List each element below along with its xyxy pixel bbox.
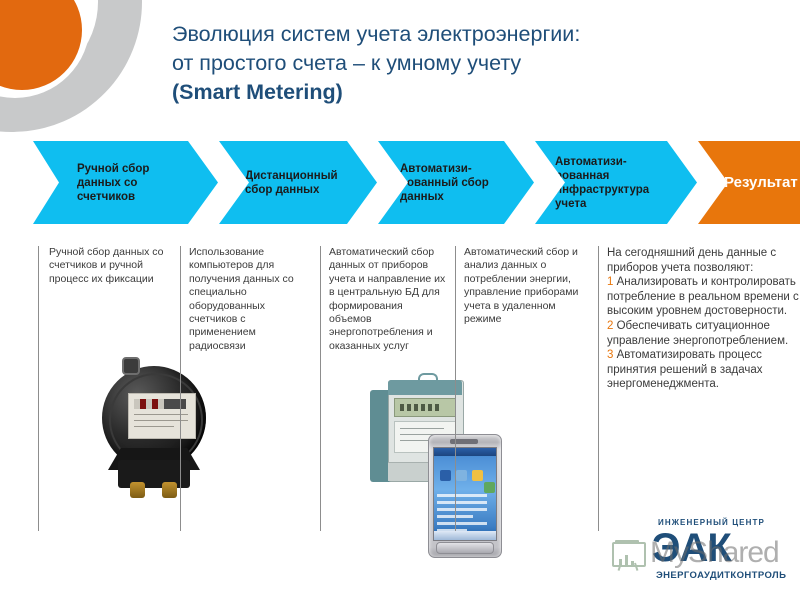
column-1-text: Ручной сбор данных со счетчиков и ручной… (49, 246, 173, 286)
title-line-1: Эволюция систем учета электроэнергии: (172, 20, 784, 49)
result-item-2: 2 Обеспечивать ситуационное управление э… (607, 319, 799, 348)
board-bar (625, 555, 628, 566)
content-columns: Ручной сбор данных со счетчиков и ручной… (0, 246, 800, 536)
title-line-3: (Smart Metering) (172, 78, 784, 107)
result-item-1: 1 Анализировать и контролировать потребл… (607, 275, 799, 319)
result-item-3-text: Автоматизировать процесс принятия решени… (607, 349, 763, 390)
column-divider (455, 246, 456, 531)
meter-hook (418, 373, 438, 384)
meter-lcd-display (394, 398, 456, 417)
result-item-2-number: 2 (607, 320, 613, 332)
pda-taskbar (434, 531, 496, 540)
slide-canvas: Эволюция систем учета электроэнергии: от… (0, 0, 800, 600)
result-item-1-number: 1 (607, 276, 613, 288)
meter-text-line (134, 426, 174, 427)
old-induction-meter-image (96, 356, 214, 504)
meter-terminal-screw (162, 482, 177, 498)
pda-app-icon (472, 470, 483, 481)
column-3-text: Автоматический сбор данных от приборов у… (329, 246, 447, 353)
watermark-text: MyShared (650, 536, 779, 570)
chevron-stage-2-label: Дистанционный сбор данных (245, 169, 357, 197)
pda-handheld-image (428, 434, 500, 556)
column-2: Использование компьютеров для получения … (180, 246, 320, 353)
meter-faceplate (128, 393, 196, 439)
column-divider (598, 246, 599, 531)
chevron-stage-5-label: Результат (724, 176, 800, 190)
board-frame (612, 542, 646, 567)
chevron-stage-2[interactable]: Дистанционный сбор данных (219, 141, 377, 224)
column-4: Автоматический сбор и анализ данных о по… (455, 246, 598, 326)
slide-title: Эволюция систем учета электроэнергии: от… (172, 20, 784, 107)
chevron-stage-3[interactable]: Автоматизи-рованный сбор данных (378, 141, 534, 224)
title-line-2: от простого счета – к умному учету (172, 49, 784, 78)
chevron-stage-1[interactable]: Ручной сбор данных со счетчиков (33, 141, 218, 224)
pda-app-icon (484, 482, 495, 493)
meter-top-lug (122, 357, 140, 375)
chevron-stage-4[interactable]: Автоматизи-рованная инфраструктура учета (535, 141, 697, 224)
pda-app-icon (456, 470, 467, 481)
presentation-board-icon (612, 540, 644, 570)
column-divider (38, 246, 39, 531)
result-text-block: На сегодняшний день данные с приборов уч… (607, 246, 799, 392)
column-2-text: Использование компьютеров для получения … (189, 246, 309, 353)
column-divider (320, 246, 321, 531)
chevron-stage-5-result[interactable]: Результат (698, 141, 800, 224)
chevron-stage-1-label: Ручной сбор данных со счетчиков (77, 162, 187, 204)
pda-app-icon (440, 470, 451, 481)
result-item-3-number: 3 (607, 349, 613, 361)
column-1: Ручной сбор данных со счетчиков и ручной… (38, 246, 180, 286)
meter-terminal-screw (130, 482, 145, 498)
result-item-3: 3 Автоматизировать процесс принятия реше… (607, 348, 799, 392)
chevron-stage-4-label: Автоматизи-рованная инфраструктура учета (555, 155, 670, 211)
pda-hardware-buttons (436, 542, 494, 554)
column-5-result: На сегодняшний день данные с приборов уч… (598, 246, 800, 392)
myshared-watermark: MyShared (612, 534, 800, 584)
chevron-stage-3-label: Автоматизи-рованный сбор данных (400, 162, 508, 204)
result-intro: На сегодняшний день данные с приборов уч… (607, 246, 799, 275)
column-divider (180, 246, 181, 531)
process-chevron-band: Ручной сбор данных со счетчиков Дистанци… (33, 141, 772, 224)
result-item-2-text: Обеспечивать ситуационное управление эне… (607, 320, 788, 347)
pda-screen (433, 447, 497, 541)
column-4-text: Автоматический сбор и анализ данных о по… (464, 246, 592, 326)
meter-dial-register (134, 399, 186, 409)
column-3: Автоматический сбор данных от приборов у… (320, 246, 455, 353)
pda-title-bar (434, 448, 496, 456)
result-item-1-text: Анализировать и контролировать потреблен… (607, 276, 799, 317)
